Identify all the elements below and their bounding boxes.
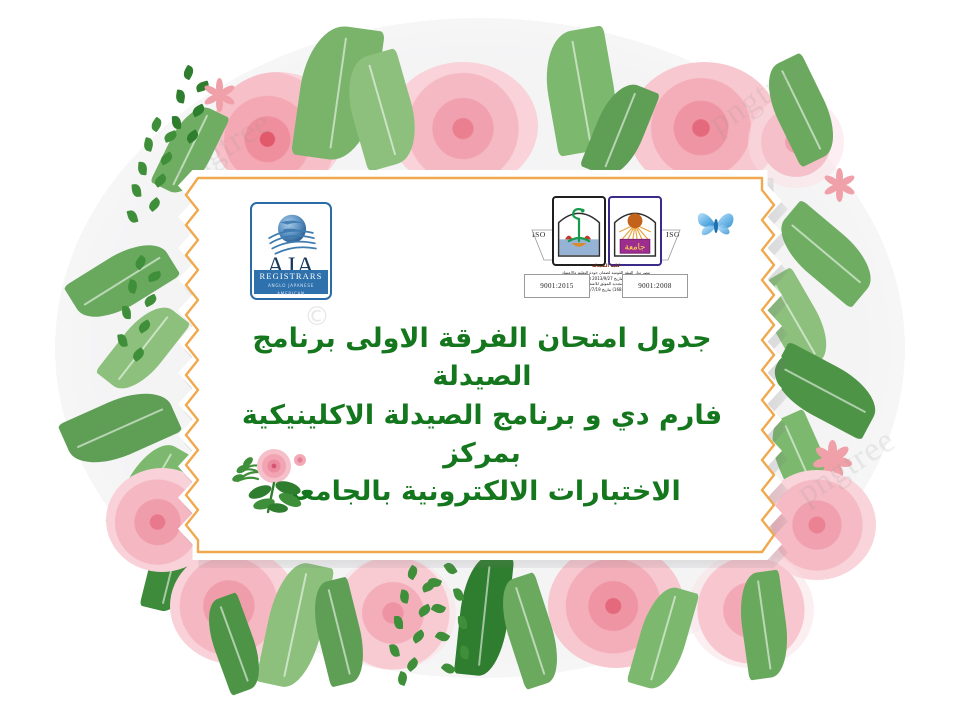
sprig-left [104,258,174,388]
title-card: AJA REGISTRARS ANGLO JAPANESE AMERICAN I… [178,170,782,560]
globe-icon [265,211,317,259]
aja-logo: AJA REGISTRARS ANGLO JAPANESE AMERICAN [250,202,332,300]
logo-row: AJA REGISTRARS ANGLO JAPANESE AMERICAN I… [178,170,782,300]
small-flower-top [202,78,236,112]
crest-pair: جامعة [552,196,662,262]
sprig-bottom-center-2 [414,560,490,690]
small-flower-right [822,168,856,202]
svg-text:جامعة: جامعة [625,242,646,252]
butterfly-icon [694,204,740,244]
title-line-1: جدول امتحان الفرقة الاولى برنامج الصيدلة [200,320,764,397]
aja-band-line2: ANGLO JAPANESE AMERICAN [254,282,328,298]
card-rose-sprig [208,438,328,518]
university-logo: ISO ISO [530,196,682,298]
bowl-of-hygieia-icon [554,198,604,264]
iso-badge-left: 9001:2015 [524,274,590,298]
assiut-university-crest: جامعة [608,196,662,266]
slide-canvas: pngtree pngtree pngtree pngtree pngtree [0,0,960,720]
faculty-of-pharmacy-crest [552,196,606,266]
aja-band: REGISTRARS ANGLO JAPANESE AMERICAN [254,270,328,294]
iso-badge-right: 9001:2008 [622,274,688,298]
aja-band-line1: REGISTRARS [254,270,328,282]
aja-frame: AJA REGISTRARS ANGLO JAPANESE AMERICAN [250,202,332,300]
